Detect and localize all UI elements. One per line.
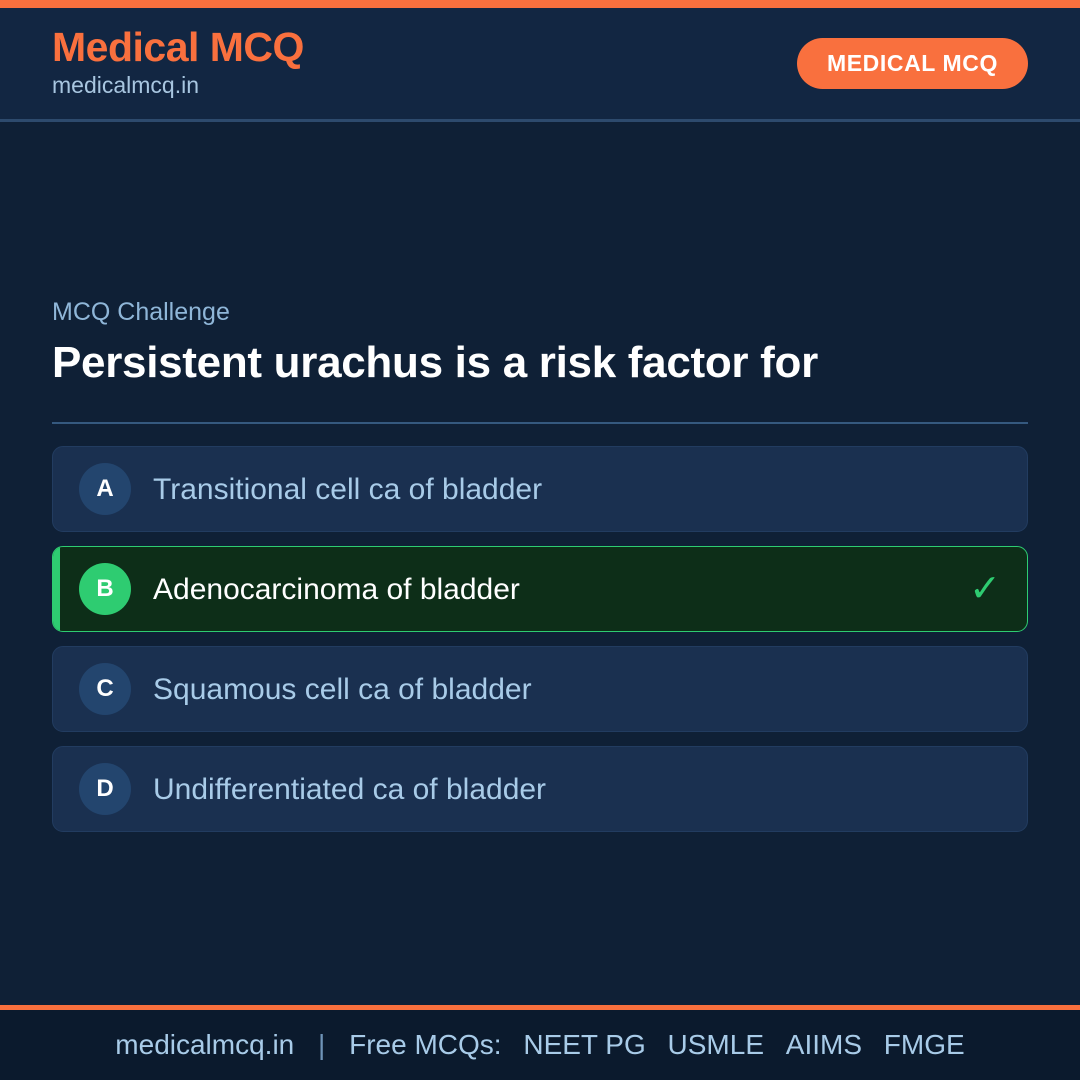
option-letter-badge-a: A xyxy=(79,463,131,515)
footer-exam-aiims: AIIMS xyxy=(772,1029,862,1060)
eyebrow-label: MCQ Challenge xyxy=(52,298,1028,327)
option-text-b: Adenocarcinoma of bladder xyxy=(153,571,951,609)
top-accent-bar xyxy=(0,0,1080,8)
option-letter-badge-b: B xyxy=(79,563,131,615)
brand-subtitle: medicalmcq.in xyxy=(52,71,304,101)
brand-block: Medical MCQ medicalmcq.in xyxy=(52,26,304,101)
footer-exam-neetpg: NEET PG xyxy=(509,1029,645,1060)
option-text-a: Transitional cell ca of bladder xyxy=(153,471,983,509)
question-text: Persistent urachus is a risk factor for xyxy=(52,336,1028,390)
option-text-d: Undifferentiated ca of bladder xyxy=(153,771,983,809)
footer-exam-usmle: USMLE xyxy=(654,1029,764,1060)
option-text-c: Squamous cell ca of bladder xyxy=(153,671,983,709)
footer-separator: | xyxy=(302,1029,341,1060)
page-header: Medical MCQ medicalmcq.in MEDICAL MCQ xyxy=(0,8,1080,122)
footer-exams-label: Free MCQs: xyxy=(349,1029,501,1060)
page-footer: medicalmcq.in | Free MCQs: NEET PG USMLE… xyxy=(0,1005,1080,1080)
option-row-d[interactable]: D Undifferentiated ca of bladder xyxy=(52,746,1028,832)
option-letter-badge-d: D xyxy=(79,763,131,815)
option-row-c[interactable]: C Squamous cell ca of bladder xyxy=(52,646,1028,732)
footer-site[interactable]: medicalmcq.in xyxy=(115,1029,294,1060)
question-divider xyxy=(52,422,1028,424)
header-badge: MEDICAL MCQ xyxy=(797,38,1028,89)
main-content: MCQ Challenge Persistent urachus is a ri… xyxy=(0,125,1080,1005)
correct-accent-bar xyxy=(53,547,60,631)
footer-exam-fmge: FMGE xyxy=(870,1029,965,1060)
brand-title: Medical MCQ xyxy=(52,26,304,69)
check-icon-b: ✓ xyxy=(969,570,1001,608)
option-row-a[interactable]: A Transitional cell ca of bladder xyxy=(52,446,1028,532)
option-row-b[interactable]: B Adenocarcinoma of bladder ✓ xyxy=(52,546,1028,632)
options-list: A Transitional cell ca of bladder B Aden… xyxy=(52,446,1028,832)
footer-text: medicalmcq.in | Free MCQs: NEET PG USMLE… xyxy=(115,1029,964,1061)
option-letter-badge-c: C xyxy=(79,663,131,715)
